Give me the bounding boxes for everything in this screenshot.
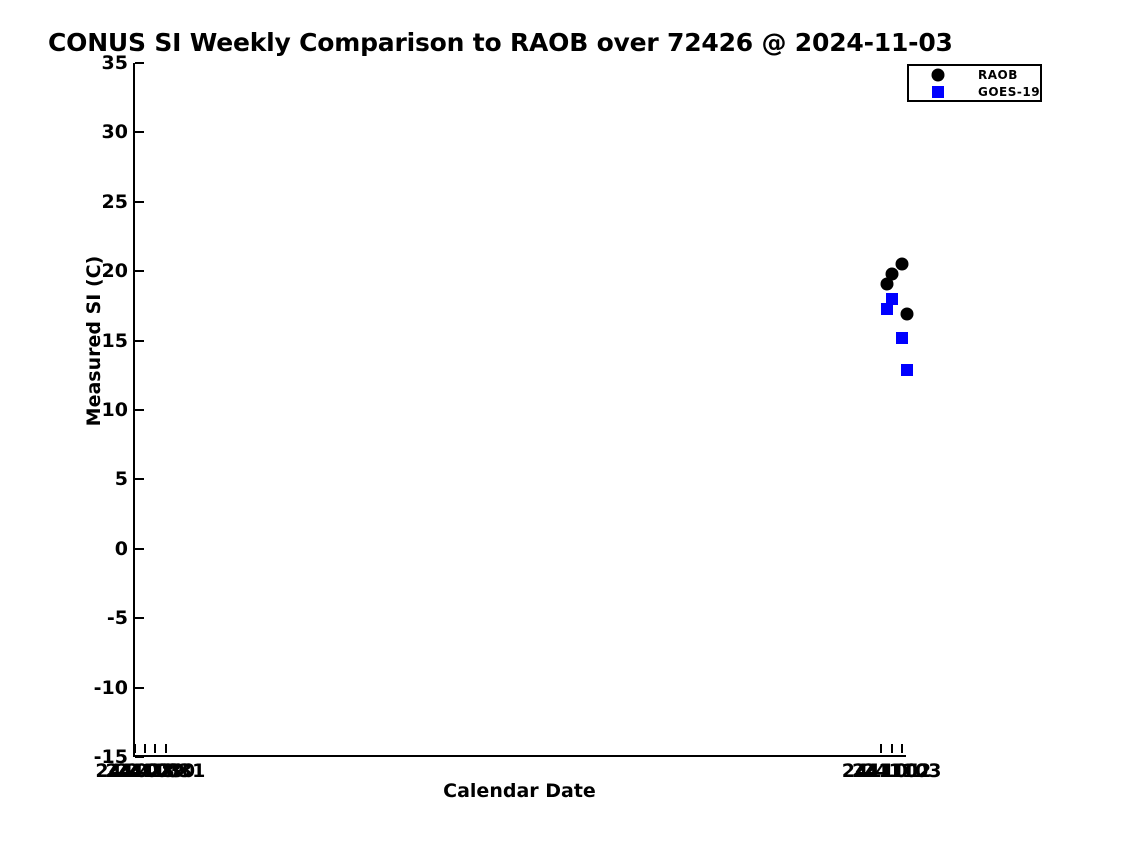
y-tick-mark: [135, 340, 144, 342]
y-tick-label: -10: [94, 677, 128, 699]
plot-area: 35302520151050-5-10-15 24102824102924103…: [133, 63, 906, 757]
x-tick-mark: [134, 744, 136, 753]
y-tick-label: 25: [102, 191, 128, 213]
legend-square-icon: [932, 86, 944, 98]
y-tick-mark: [135, 270, 144, 272]
x-tick-mark: [144, 744, 146, 753]
y-tick-label: 30: [102, 121, 128, 143]
x-tick-mark: [880, 744, 882, 753]
y-tick-mark: [135, 131, 144, 133]
chart-legend: RAOBGOES-19: [907, 64, 1042, 102]
y-tick-mark: [135, 409, 144, 411]
y-tick-label: 35: [102, 52, 128, 74]
y-tick-mark: [135, 687, 144, 689]
y-tick-mark: [135, 756, 144, 758]
data-point-goes-19: [901, 364, 913, 376]
x-tick-mark: [891, 744, 893, 753]
legend-label: RAOB: [978, 68, 1018, 82]
y-tick-mark: [135, 62, 144, 64]
x-tick-label: 241103: [862, 760, 941, 782]
data-point-goes-19: [886, 293, 898, 305]
legend-label: GOES-19: [978, 85, 1040, 99]
x-tick-label: 241031: [126, 760, 205, 782]
legend-circle-icon: [932, 68, 945, 81]
data-point-goes-19: [896, 332, 908, 344]
y-tick-label: -5: [107, 607, 128, 629]
x-axis-label: Calendar Date: [133, 780, 906, 802]
y-tick-label: 5: [115, 468, 128, 490]
data-point-raob: [900, 308, 913, 321]
x-tick-mark: [154, 744, 156, 753]
y-tick-mark: [135, 617, 144, 619]
y-tick-label: 15: [102, 330, 128, 352]
chart-figure: CONUS SI Weekly Comparison to RAOB over …: [0, 0, 1135, 851]
y-tick-mark: [135, 478, 144, 480]
y-tick-mark: [135, 548, 144, 550]
legend-entry-raob: RAOB: [909, 66, 1040, 83]
y-tick-label: 10: [102, 399, 128, 421]
y-tick-mark: [135, 201, 144, 203]
y-axis-label: Measured SI (C): [83, 241, 105, 441]
data-point-raob: [895, 258, 908, 271]
x-tick-mark: [165, 744, 167, 753]
y-tick-label: 0: [115, 538, 128, 560]
data-point-raob: [885, 267, 898, 280]
chart-title: CONUS SI Weekly Comparison to RAOB over …: [48, 28, 953, 57]
y-tick-label: 20: [102, 260, 128, 282]
x-tick-mark: [901, 744, 903, 753]
legend-entry-goes-19: GOES-19: [909, 83, 1040, 100]
